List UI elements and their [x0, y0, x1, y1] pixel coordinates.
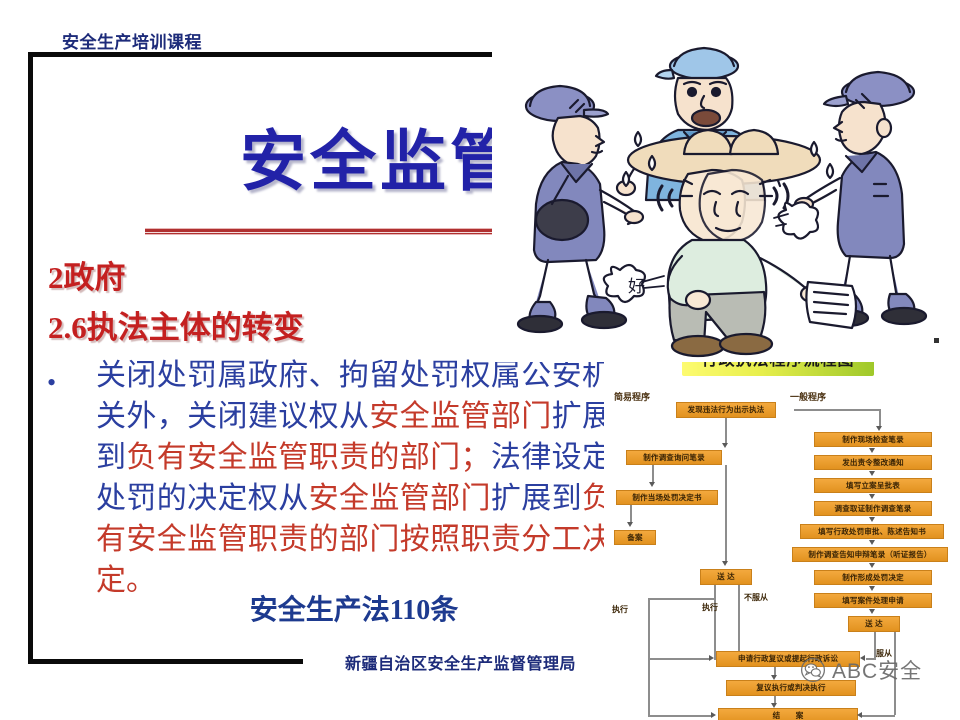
flow-edge-s1	[725, 418, 727, 444]
bullet-marker: •	[47, 370, 56, 396]
slide-frame-left	[28, 52, 33, 664]
flow-arrow-g2	[869, 494, 875, 499]
flow-node-general-4: 填写行政处罚审批、陈述告知书	[800, 524, 944, 539]
flow-node-general-5: 制作调查告知申辩笔录（听证报告）	[792, 547, 948, 562]
flowchart-column-label-general: 一般程序	[790, 390, 826, 403]
flow-node-close: 结 案	[718, 708, 858, 720]
section-heading: 2政府	[48, 252, 126, 297]
course-kicker: 安全生产培训课程	[62, 28, 202, 53]
body-segment-6: 扩展到	[491, 482, 582, 515]
flow-edge-general-down	[879, 409, 881, 427]
flow-arrow-right-close	[857, 712, 862, 718]
flow-arrow-general-top	[876, 426, 882, 431]
flow-edge-exec	[714, 585, 716, 660]
flow-node-start: 发现违法行为出示执法	[676, 402, 776, 418]
page-title: 安全监管	[240, 108, 520, 204]
flow-node-general-6: 制作形成处罚决定	[814, 570, 932, 585]
flow-arrow-g6	[869, 586, 875, 591]
flow-arrow-g1	[869, 471, 875, 476]
flow-node-simple-2: 备案	[614, 530, 656, 545]
flow-edge-label-execute-left: 执行	[612, 604, 628, 615]
flowchart-column-label-simple: 简易程序	[614, 390, 650, 403]
flow-node-deliver-general: 送 达	[848, 616, 900, 632]
flow-edge-start-to-general	[794, 409, 880, 411]
law-citation: 安全生产法110条	[96, 588, 612, 628]
flow-edge-start-to-deliver	[725, 465, 727, 562]
flow-node-general-7: 填写案件处理申请	[814, 593, 932, 608]
flow-node-general-3: 调查取证制作调查笔录	[814, 501, 932, 516]
flow-arrow-s1	[722, 443, 728, 448]
flow-edge-right-close-h	[862, 715, 895, 717]
body-segment-1: 安全监管部门	[369, 400, 551, 433]
flow-node-deliver: 送 达	[700, 569, 752, 585]
flow-node-general-0: 制作现场检查笔录	[814, 432, 932, 447]
footer-organization: 新疆自治区安全生产监督管理局	[345, 650, 576, 674]
presentation-slide: 安全生产培训课程 安全监管 2政府 2.6执法主体的转变 • 关闭处罚属政府、拘…	[0, 0, 960, 720]
flow-node-general-1: 发出责令整改通知	[814, 455, 932, 470]
flow-edge-to-reconsider	[648, 658, 710, 660]
flow-edge-label-execute: 执行	[702, 602, 718, 613]
flow-arrow-g5	[869, 563, 875, 568]
body-segment-3: 负有安全监管职责的部门；	[126, 441, 490, 474]
flow-edge-left-rail-top	[648, 598, 716, 600]
slide-frame-bottom	[28, 659, 303, 664]
watermark-label: ABC安全	[832, 655, 922, 685]
watermark: ABC安全	[800, 655, 922, 685]
flow-arrow-g0	[869, 448, 875, 453]
flow-arrow-deliver	[722, 561, 728, 566]
body-paragraph: 关闭处罚属政府、拘留处罚权属公安机关外，关闭建议权从安全监管部门扩展到负有安全监…	[96, 355, 612, 601]
wechat-speech-bubble-icon	[800, 657, 826, 683]
flow-edge-disobey	[738, 585, 740, 637]
flow-arrow-g4	[869, 540, 875, 545]
flow-node-simple-0: 制作调查询问笔录	[626, 450, 722, 465]
flow-arrow-left-close	[711, 712, 716, 718]
flow-edge-label-disobey: 不服从	[744, 592, 768, 603]
flow-edge-left-rail	[648, 598, 650, 690]
flow-arrow-g3	[869, 517, 875, 522]
flow-edge-s3	[630, 505, 632, 523]
body-segment-5: 安全监管部门	[309, 482, 491, 515]
flow-arrow-reconsider	[709, 655, 714, 661]
speech-bubble-text: 好	[628, 277, 645, 297]
flow-node-general-2: 填写立案呈批表	[814, 478, 932, 493]
cartoon-illustration: 好	[492, 44, 960, 362]
flow-arrow-s2	[649, 482, 655, 487]
flow-edge-left-close-h	[648, 715, 712, 717]
stray-mark	[934, 338, 939, 343]
subsection-heading: 2.6执法主体的转变	[48, 302, 304, 347]
flow-node-simple-1: 制作当场处罚决定书	[616, 490, 718, 505]
flow-edge-left-to-close	[648, 688, 650, 716]
flow-edge-s2	[652, 465, 654, 483]
flow-arrow-g7	[869, 609, 875, 614]
flow-arrow-s3	[627, 522, 633, 527]
